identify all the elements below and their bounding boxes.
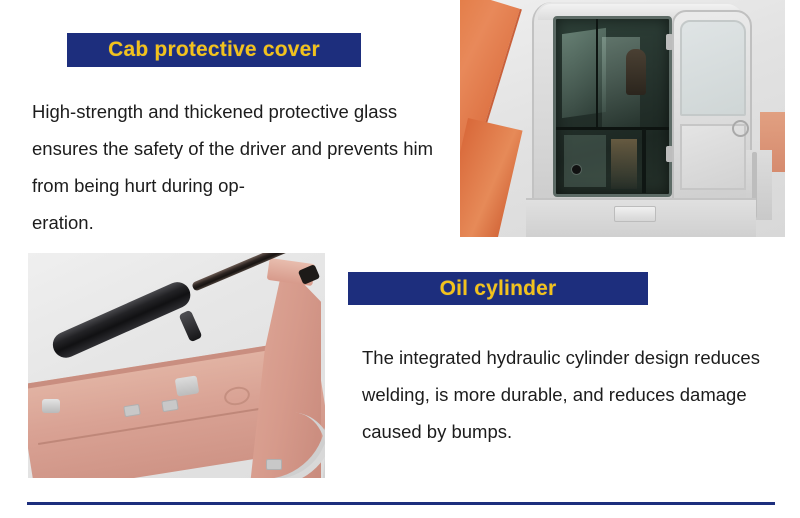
cab-photo-scene — [460, 0, 785, 237]
window-mullion-horizontal — [556, 127, 669, 130]
cab-protective-cover-banner: Cab protective cover — [67, 33, 361, 67]
cab-door-panel — [672, 10, 752, 204]
driver-silhouette — [626, 49, 646, 95]
oil-cylinder-banner-label: Oil cylinder — [440, 277, 557, 301]
cab-protective-cover-banner-label: Cab protective cover — [108, 38, 320, 62]
cab-protective-glass-window — [553, 16, 672, 197]
hose-clamp-right — [266, 459, 282, 470]
window-mullion-vertical — [596, 19, 598, 127]
cab-vent-grille — [614, 206, 656, 222]
cylinder-pivot-pin — [42, 399, 60, 413]
cylinder-mount-bracket — [175, 375, 200, 396]
bottom-divider-line — [27, 502, 775, 505]
oil-cylinder-banner: Oil cylinder — [348, 272, 648, 305]
glass-reflection-upper-left — [562, 28, 606, 118]
cab-door-handle — [732, 120, 749, 137]
cab-interior-knob — [572, 165, 581, 174]
cab-interior-post — [642, 129, 646, 193]
oil-cylinder-description: The integrated hydraulic cylinder design… — [362, 339, 776, 450]
oil-cylinder-photo-scene — [28, 253, 325, 478]
glass-reflection-lower-right — [611, 139, 637, 189]
cab-protective-cover-photo — [460, 0, 785, 237]
glass-reflection-lower-left — [564, 135, 606, 187]
oil-cylinder-photo — [28, 253, 325, 478]
cab-protective-cover-description: High-strength and thickened protective g… — [32, 93, 456, 241]
cab-door-upper-window — [680, 20, 746, 116]
